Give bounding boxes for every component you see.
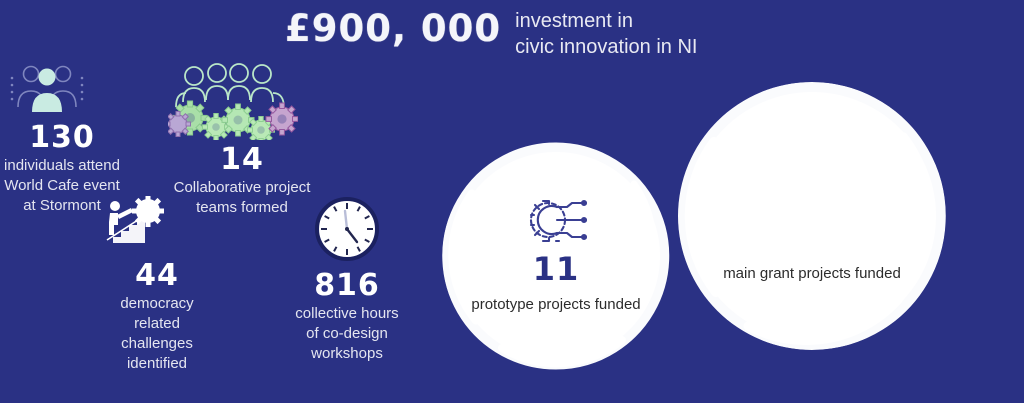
investment-amount: £900, 000 — [285, 4, 501, 54]
people-gears-icon — [168, 62, 316, 140]
headline-line-2: civic innovation in NI — [515, 34, 697, 60]
circle-prototype-caption: prototype projects funded — [466, 295, 646, 315]
stat-individuals: 130 individuals attend World Cafe event … — [2, 62, 122, 216]
gear-circuit-icon — [525, 197, 587, 247]
circle-content: 11 prototype projects funded — [452, 152, 660, 360]
three-people-icon — [2, 62, 122, 114]
stat-teams-number: 14 — [168, 142, 316, 178]
stat-democracy-number: 44 — [98, 258, 216, 294]
headline-line-1: investment in — [515, 8, 697, 34]
circle-content: main grant projects funded — [688, 92, 936, 340]
circle-prototype-projects: 11 prototype projects funded — [452, 152, 660, 360]
circle-grant-caption: main grant projects funded — [717, 264, 907, 284]
circle-prototype-number: 11 — [533, 251, 580, 287]
circle-main-grant-projects: 7 main grant projects funded — [688, 92, 936, 340]
stat-hours: 816 collective hours of co-design worksh… — [288, 196, 406, 364]
stat-individuals-number: 130 — [2, 120, 122, 156]
clock-icon — [314, 196, 380, 262]
stat-hours-number: 816 — [288, 268, 406, 304]
stat-teams: 14 Collaborative project teams formed — [168, 62, 316, 218]
infographic-canvas: £900, 000 investment in civic innovation… — [0, 0, 1024, 403]
headline-text: investment in civic innovation in NI — [515, 4, 697, 60]
person-stairs-gear-icon — [98, 196, 216, 254]
stat-hours-caption: collective hours of co-design workshops — [288, 304, 406, 364]
headline: £900, 000 investment in civic innovation… — [285, 4, 745, 60]
stat-democracy: 44 democracy related challenges identifi… — [98, 196, 216, 374]
stat-democracy-caption: democracy related challenges identified — [98, 294, 216, 374]
